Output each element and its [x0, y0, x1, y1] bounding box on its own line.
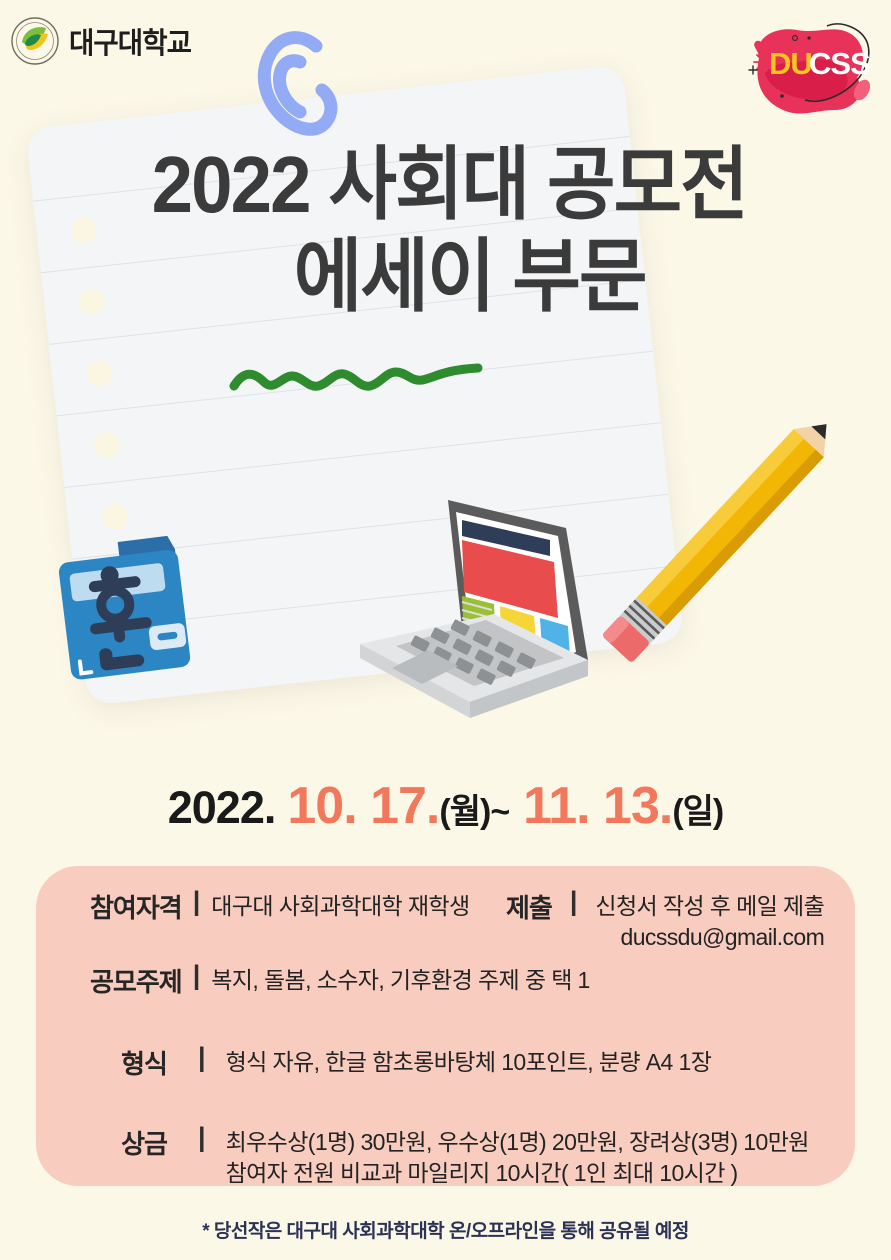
- date-end-weekday: (일): [672, 793, 723, 831]
- info-row-qualification: 참여자격 | 대구대 사회과학대학 재학생: [90, 888, 470, 925]
- event-date-line: 2022.10. 17.(월)~11. 13.(일): [0, 776, 891, 836]
- svg-text:DU: DU: [769, 46, 812, 81]
- ducss-club-logo: DU CSS: [731, 12, 877, 130]
- title-line-2: 에세이 부문: [31, 238, 860, 316]
- info-panel: 참여자격 | 대구대 사회과학대학 재학생 제출 | 신청서 작성 후 메일 제…: [36, 866, 855, 1186]
- poster-title: 2022 사회대 공모전 에세이 부문: [0, 146, 891, 315]
- info-row-prize: 상금 | 최우수상(1명) 30만원, 우수상(1명) 20만원, 장려상(3명…: [110, 1124, 809, 1189]
- prize-value-line2: 참여자 전원 비교과 마일리지 10시간( 1인 최대 10시간 ): [226, 1158, 809, 1189]
- title-line-1: 2022 사회대 공모전: [31, 146, 860, 224]
- poster-canvas: 대구대학교 DU CSS 2022 사회대 공모전: [0, 0, 891, 1260]
- submission-label: 제출: [506, 888, 552, 925]
- paperclip-icon: [238, 22, 358, 152]
- date-year: 2022.: [168, 782, 276, 833]
- date-start-weekday: (월)~: [439, 793, 509, 831]
- separator-bar: |: [193, 962, 201, 989]
- laptop-illustration: [352, 468, 642, 733]
- separator-bar: |: [570, 888, 578, 915]
- topic-value: 복지, 돌봄, 소수자, 기후환경 주제 중 택 1: [211, 965, 590, 996]
- qualification-value: 대구대 사회과학대학 재학생: [211, 891, 469, 922]
- blue-folder-card-illustration: [49, 523, 227, 696]
- topic-label: 공모주제: [90, 962, 182, 999]
- format-value: 형식 자유, 한글 함초롱바탕체 10포인트, 분량 A4 1장: [226, 1047, 712, 1078]
- prize-label: 상금: [110, 1124, 178, 1161]
- submission-email[interactable]: ducssdu@gmail.com: [595, 922, 824, 953]
- separator-bar: |: [193, 888, 201, 915]
- qualification-label: 참여자격: [90, 888, 182, 925]
- svg-text:CSS: CSS: [809, 46, 870, 81]
- submission-value-line1: 신청서 작성 후 메일 제출: [595, 891, 824, 922]
- info-row-format: 형식 | 형식 자유, 한글 함초롱바탕체 10포인트, 분량 A4 1장: [110, 1044, 711, 1081]
- university-name: 대구대학교: [69, 20, 191, 62]
- info-row-topic: 공모주제 | 복지, 돌봄, 소수자, 기후환경 주제 중 택 1: [90, 962, 590, 999]
- date-end: 11. 13.: [523, 777, 672, 835]
- green-squiggle-underline: [228, 356, 486, 396]
- separator-bar: |: [198, 1124, 206, 1151]
- date-start: 10. 17.: [287, 777, 439, 835]
- university-logo: 대구대학교: [10, 16, 197, 66]
- separator-bar: |: [198, 1044, 206, 1071]
- prize-value-line1: 최우수상(1명) 30만원, 우수상(1명) 20만원, 장려상(3명) 10만…: [226, 1127, 809, 1158]
- footnote: * 당선작은 대구대 사회과학대학 온/오프라인을 통해 공유될 예정: [0, 1216, 891, 1243]
- info-row-submission: 제출 | 신청서 작성 후 메일 제출 ducssdu@gmail.com: [506, 888, 824, 953]
- daegu-university-emblem-icon: [10, 16, 60, 66]
- format-label: 형식: [110, 1044, 178, 1081]
